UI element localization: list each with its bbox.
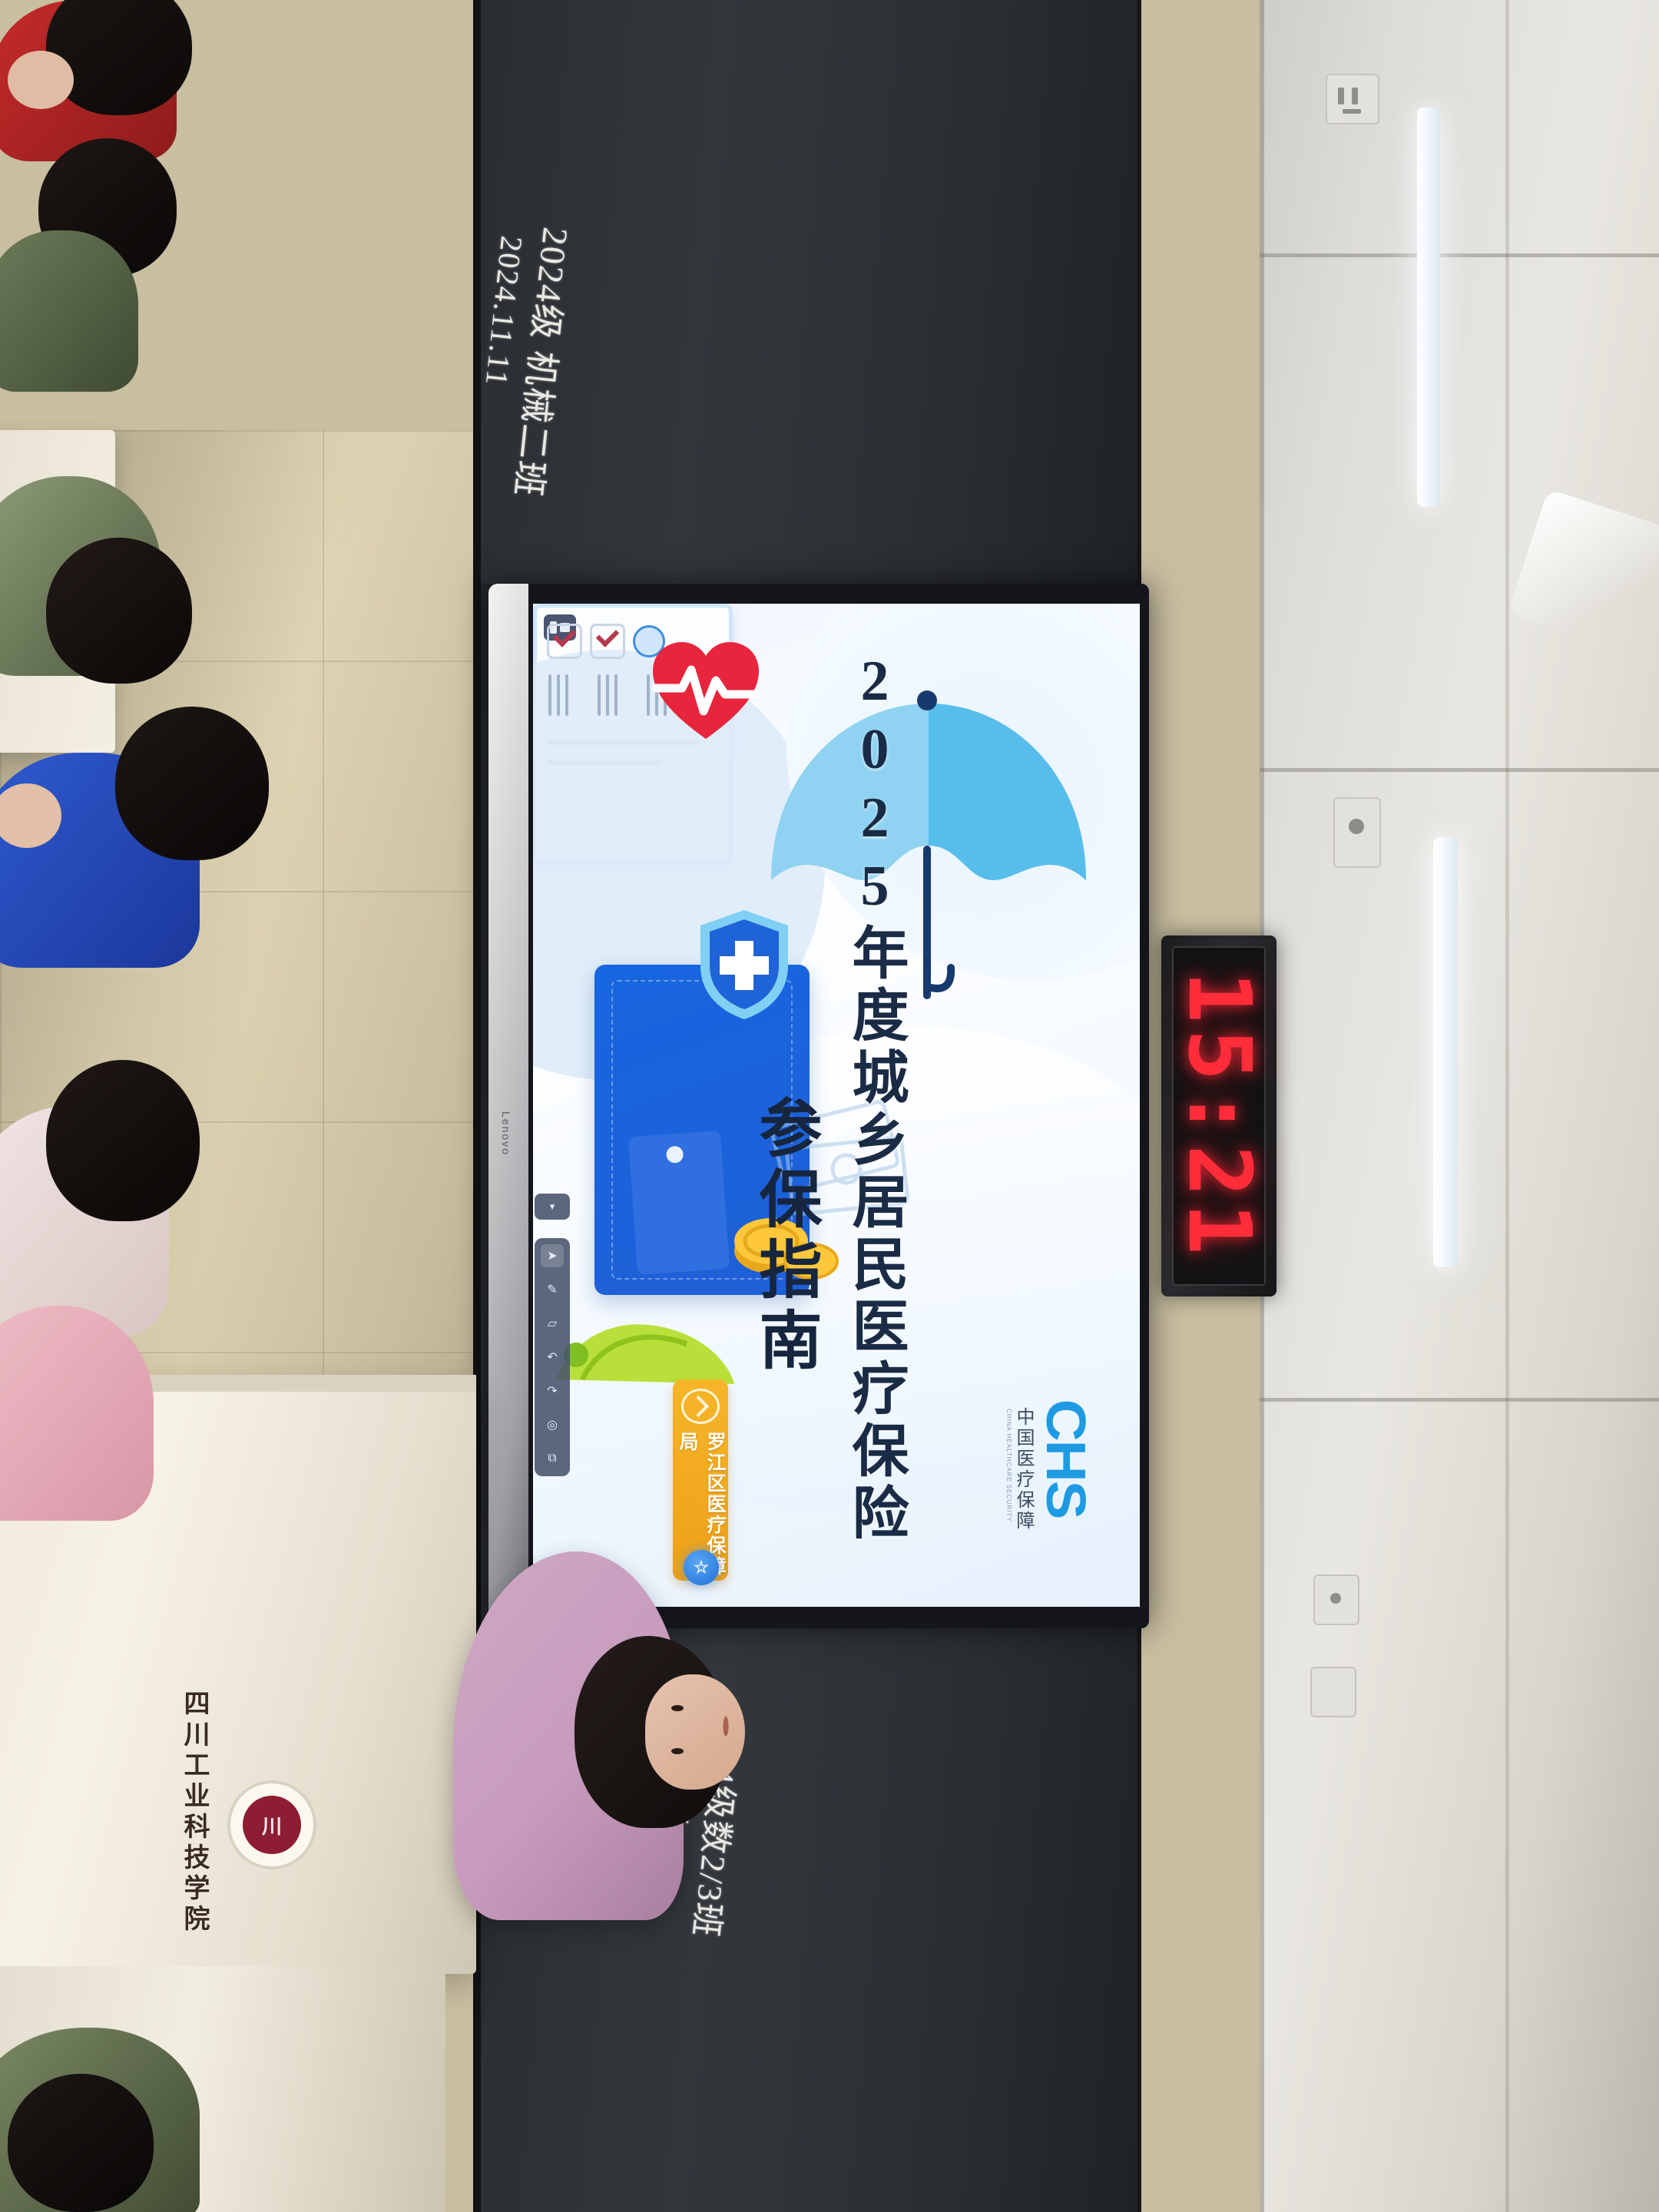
redo-tool-icon[interactable]: ↷	[541, 1379, 564, 1402]
toolbar-collapse-button[interactable]: ▾	[535, 1194, 570, 1220]
medical-shield-icon	[694, 907, 794, 1022]
check-item-1	[547, 624, 582, 659]
check-item-2	[590, 624, 625, 659]
chevron-down-circle-icon	[681, 1389, 720, 1424]
chs-logo-cn: 中国医疗保障	[1010, 1407, 1037, 1532]
smartboard-toolbar[interactable]: ➤ ✎ ▱ ↶ ↷ ◎ ⧉	[535, 1238, 570, 1476]
shape-tool-icon[interactable]: ◎	[541, 1413, 564, 1436]
classroom-photo: 2024级 机械二班 2024.11.11 24级数2/3班 胡杨 11.15 …	[0, 0, 1659, 2212]
cursor-tool-icon[interactable]: ➤	[541, 1244, 564, 1267]
slide-subtitle: 参保指南	[739, 1095, 830, 1378]
undo-tool-icon[interactable]: ↶	[541, 1346, 564, 1369]
clock-time: 15:21	[1169, 971, 1269, 1260]
smartboard-brand-label: Lenovo	[498, 1097, 515, 1171]
smartboard-screen[interactable]: 2025年度城乡居民医疗保险 参保指南 CHS 中国医疗保障 CHINA HEA…	[533, 604, 1140, 1607]
red-heart-ecg-icon	[648, 637, 763, 743]
pen-tool-icon[interactable]: ✎	[541, 1278, 564, 1301]
right-wall	[1260, 0, 1659, 2212]
wall-socket-lower-b	[1310, 1667, 1356, 1717]
wall-socket-mid	[1333, 797, 1381, 868]
institution-name: 四川工业科技学院	[175, 1690, 213, 1936]
price-tag-graphic	[628, 1131, 730, 1275]
wall-seam-3	[1260, 768, 1659, 772]
wall-socket-lower-a	[1313, 1575, 1359, 1625]
chs-logo: CHS 中国医疗保障 CHINA HEALTHCARE SECURITY	[1003, 1402, 1103, 1579]
green-grass-graphic	[548, 1295, 740, 1387]
blue-umbrella-icon	[763, 688, 1094, 1018]
presenter-face	[645, 1674, 745, 1790]
school-seal: 川	[227, 1780, 316, 1869]
page-number-badge: ☆	[684, 1550, 719, 1585]
ceiling-light-tube-a	[1417, 108, 1440, 507]
clock-screen: 15:21	[1172, 946, 1266, 1286]
chs-logo-mark: CHS	[1034, 1399, 1097, 1518]
eraser-tool-icon[interactable]: ▱	[541, 1312, 564, 1335]
wall-seam-5	[1505, 0, 1509, 2212]
ceiling-light-tube-b	[1433, 837, 1458, 1267]
wall-socket-top	[1326, 74, 1379, 124]
chs-logo-en: CHINA HEALTHCARE SECURITY	[1005, 1409, 1012, 1522]
slide-title: 2025年度城乡居民医疗保险	[834, 650, 916, 1545]
wall-seam-4	[1260, 1398, 1659, 1402]
digital-clock: 15:21	[1161, 935, 1277, 1296]
school-seal-text: 川	[243, 1796, 301, 1854]
wall-seam-2	[1260, 253, 1659, 257]
more-tool-icon[interactable]: ⧉	[541, 1447, 564, 1470]
